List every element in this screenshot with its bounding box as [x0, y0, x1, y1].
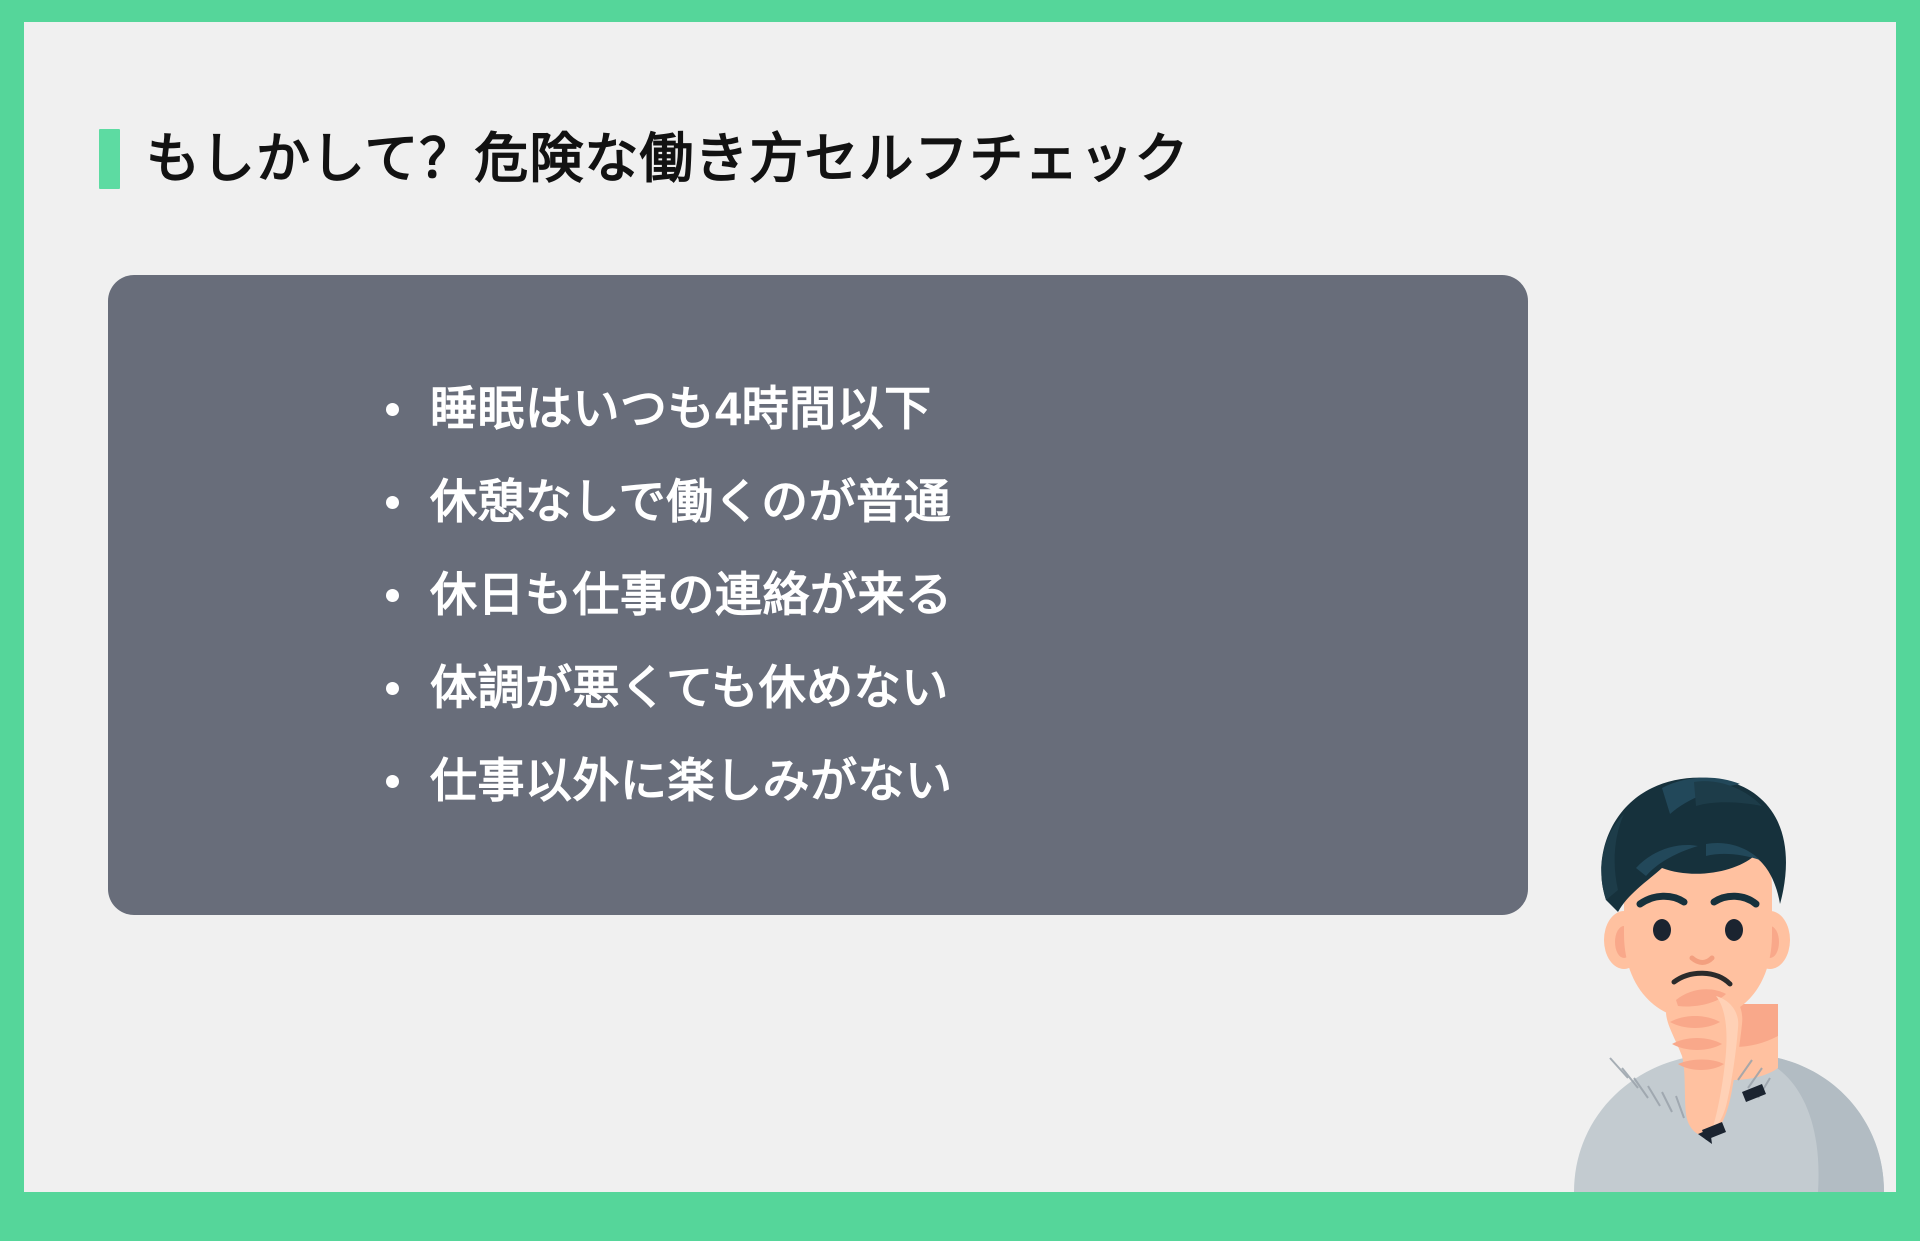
bullet-dot-icon	[386, 496, 399, 509]
list-item-label: 仕事以外に楽しみがない	[430, 755, 953, 807]
thinking-man-illustration	[1566, 772, 1896, 1192]
slide-inner-panel: もしかして？危険な働き方セルフチェック 睡眠はいつも4時間以下 休憩なしで働くの…	[24, 22, 1896, 1192]
title-accent-bar	[99, 129, 120, 189]
list-item: 体調が悪くても休めない	[386, 655, 949, 721]
checklist-card: 睡眠はいつも4時間以下 休憩なしで働くのが普通 休日も仕事の連絡が来る 体調が悪…	[108, 275, 1528, 915]
bullet-dot-icon	[386, 403, 399, 416]
list-item: 仕事以外に楽しみがない	[386, 748, 953, 814]
list-item-label: 睡眠はいつも4時間以下	[430, 383, 932, 435]
bullet-dot-icon	[386, 775, 399, 788]
slide-root: もしかして？危険な働き方セルフチェック 睡眠はいつも4時間以下 休憩なしで働くの…	[0, 0, 1920, 1241]
page-title-row: もしかして？危険な働き方セルフチェック	[99, 114, 1189, 204]
page-title: もしかして？危険な働き方セルフチェック	[146, 132, 1189, 186]
checklist-list: 睡眠はいつも4時間以下 休憩なしで働くのが普通 休日も仕事の連絡が来る 体調が悪…	[108, 275, 1528, 915]
list-item: 休憩なしで働くのが普通	[386, 469, 951, 535]
list-item-label: 休日も仕事の連絡が来る	[430, 569, 953, 621]
list-item: 休日も仕事の連絡が来る	[386, 562, 953, 628]
bullet-dot-icon	[386, 589, 399, 602]
list-item-label: 体調が悪くても休めない	[430, 662, 949, 714]
bullet-dot-icon	[386, 682, 399, 695]
list-item-label: 休憩なしで働くのが普通	[430, 476, 951, 528]
list-item: 睡眠はいつも4時間以下	[386, 376, 932, 442]
